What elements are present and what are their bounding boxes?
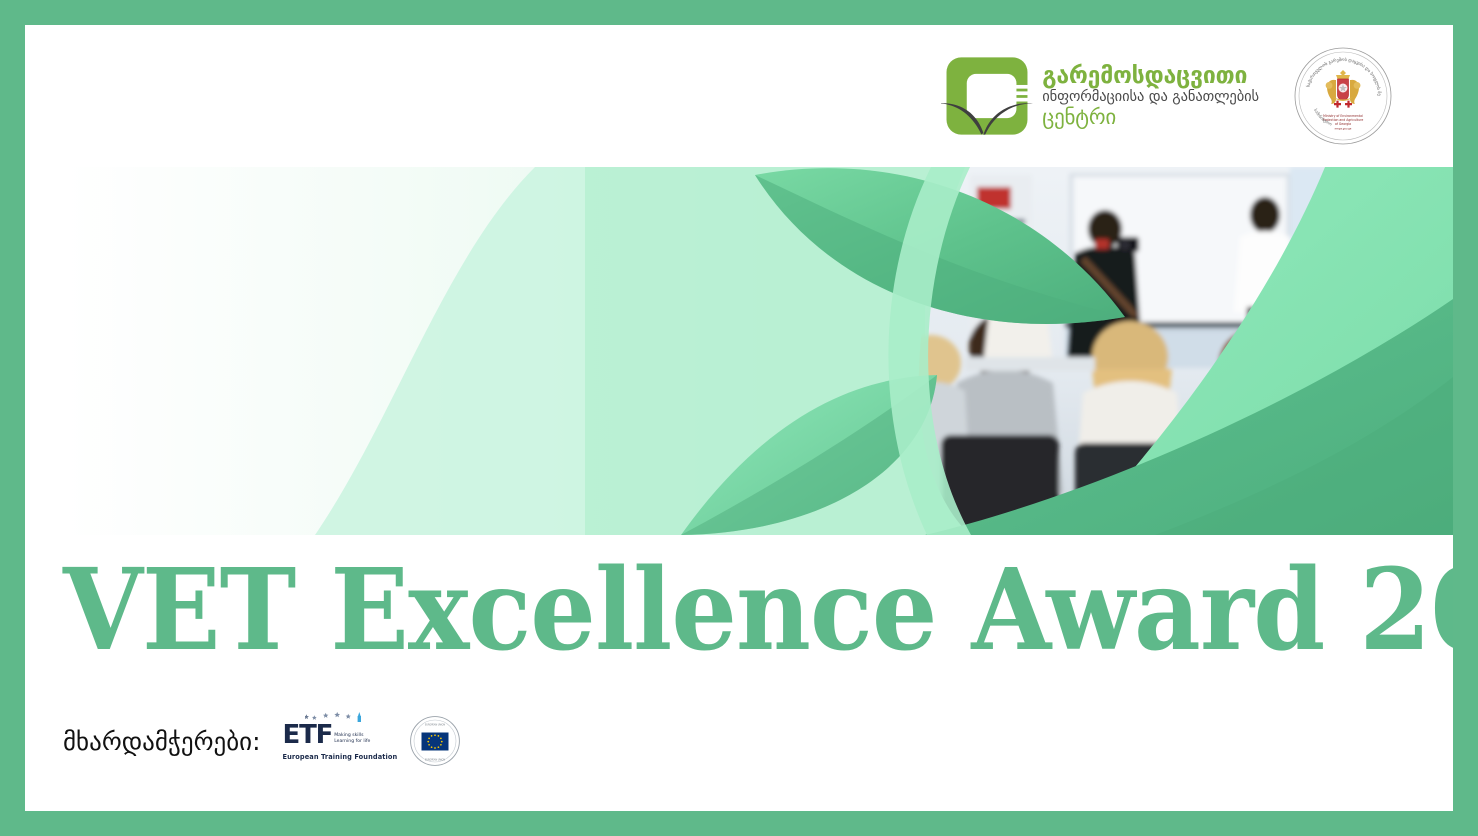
etf-tagline: Making skills Learning for life	[334, 733, 370, 745]
etf-tagline-line2: Learning for life	[334, 739, 370, 744]
cenn-logo-text: გარემოსდაცვითი ინფორმაციისა და განათლები…	[1042, 64, 1259, 128]
etf-wordmark: ETF Making skills Learning for life	[283, 722, 371, 748]
svg-text:of Georgia: of Georgia	[1335, 122, 1351, 126]
european-union-badge-icon: EUROPEAN UNION EUROPEAN UNION	[409, 715, 461, 767]
etf-tagline-line1: Making skills	[334, 733, 363, 738]
etf-word: ETF	[283, 722, 333, 748]
supporters-label: მხარდამჭერები:	[63, 727, 261, 756]
poster-root: გარემოსდაცვითი ინფორმაციისა და განათლები…	[0, 0, 1478, 836]
svg-text:mepa.gov.ge: mepa.gov.ge	[1335, 128, 1352, 131]
svg-text:EUROPEAN UNION: EUROPEAN UNION	[425, 724, 445, 727]
svg-text:EUROPEAN UNION: EUROPEAN UNION	[425, 758, 445, 761]
etf-logo: ETF Making skills Learning for life Euro…	[283, 722, 387, 761]
poster-sheet: გარემოსდაცვითი ინფორმაციისა და განათლები…	[25, 25, 1453, 811]
ministry-seal-icon: საქართველოს გარემოს დაცვისა და სოფლის მე…	[1293, 46, 1393, 146]
etf-full-name: European Training Foundation	[283, 753, 398, 761]
cenn-logo: გარემოსდაცვითი ინფორმაციისა და განათლები…	[941, 50, 1259, 142]
hero-banner	[65, 167, 1453, 535]
cenn-logo-line2: ინფორმაციისა და განათლების	[1042, 90, 1259, 105]
supporters-row: მხარდამჭერები:	[63, 715, 461, 767]
cenn-logo-line3: ცენტრი	[1042, 106, 1259, 128]
cenn-logo-line1: გარემოსდაცვითი	[1042, 64, 1259, 88]
leaf-book-logo-icon	[941, 50, 1033, 142]
header-logo-bar: გარემოსდაცვითი ინფორმაციისა და განათლები…	[25, 25, 1453, 167]
page-title: VET Excellence Award 2022	[63, 555, 1314, 667]
